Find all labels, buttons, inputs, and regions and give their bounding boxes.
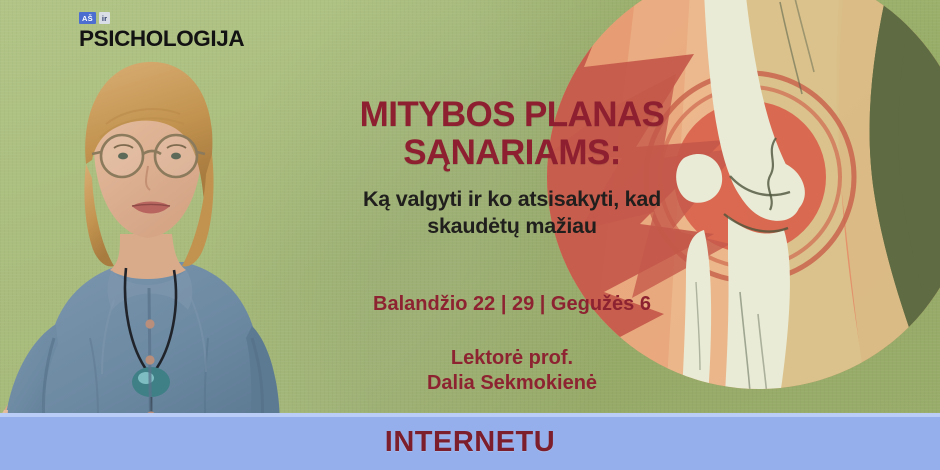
event-dates: Balandžio 22 | 29 | Gegužės 6 bbox=[262, 292, 762, 316]
banner-label: INTERNETU bbox=[385, 427, 555, 457]
format-banner: INTERNETU bbox=[0, 413, 940, 470]
poster-subtitle-line-1: Ką valgyti ir ko atsisakyti, kad bbox=[262, 186, 762, 213]
poster-title-line-2: SĄNARIAMS: bbox=[262, 134, 762, 172]
logo-badge-ir: ir bbox=[99, 12, 110, 24]
poster-copy: MITYBOS PLANAS SĄNARIAMS: Ką valgyti ir … bbox=[262, 96, 762, 240]
logo-badge-as: AŠ bbox=[79, 12, 96, 24]
poster-canvas: AŠ ir PSICHOLOGIJA MITYBOS PLANAS SĄNARI… bbox=[0, 0, 940, 470]
logo-wordmark: PSICHOLOGIJA bbox=[79, 26, 244, 52]
poster-title-line-1: MITYBOS PLANAS bbox=[262, 96, 762, 134]
lecturer-title: Lektorė prof. bbox=[262, 346, 762, 371]
lecturer-name: Dalia Sekmokienė bbox=[262, 371, 762, 396]
poster-subtitle-line-2: skaudėtų mažiau bbox=[262, 213, 762, 240]
banner-top-highlight bbox=[0, 413, 940, 417]
brand-logo[interactable]: AŠ ir PSICHOLOGIJA bbox=[79, 12, 244, 52]
lecturer-block: Lektorė prof. Dalia Sekmokienė bbox=[262, 346, 762, 396]
lecturer-portrait bbox=[0, 38, 304, 470]
logo-badges: AŠ ir bbox=[79, 12, 244, 26]
